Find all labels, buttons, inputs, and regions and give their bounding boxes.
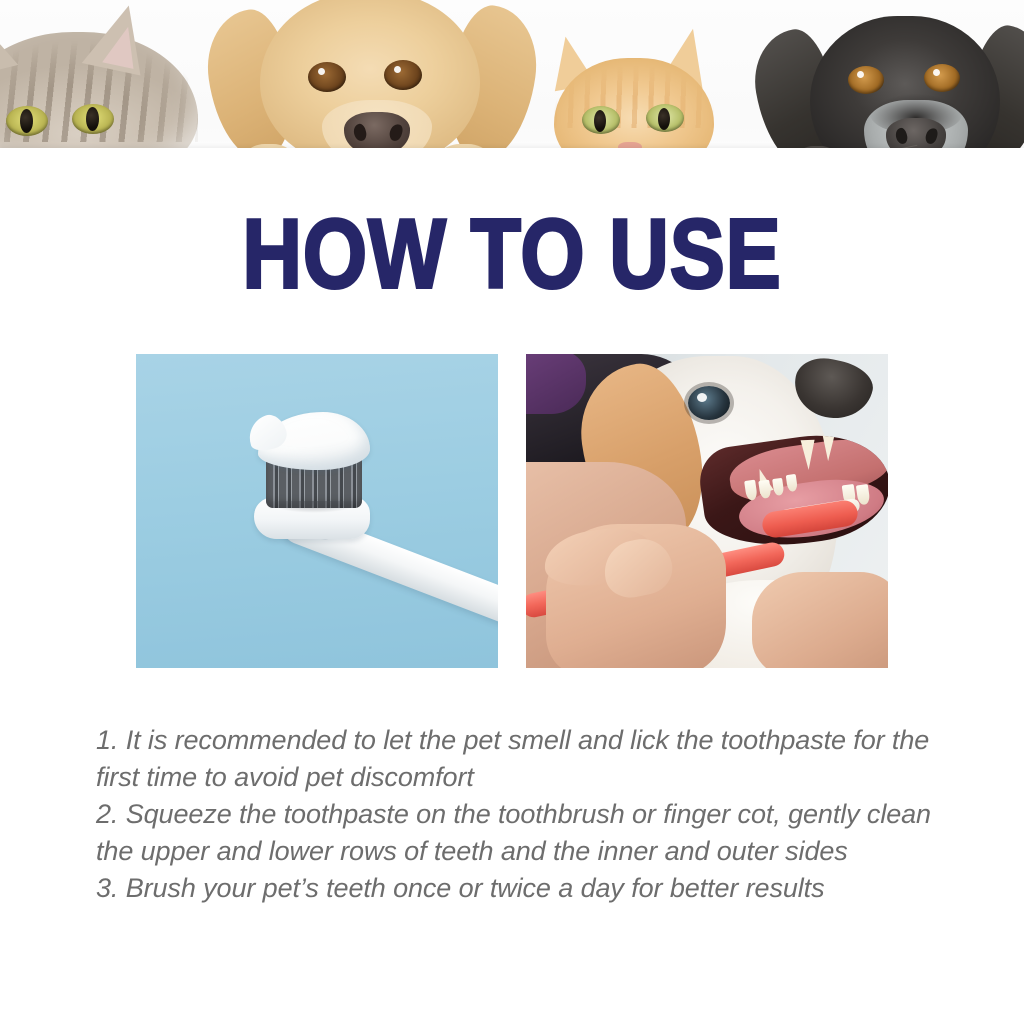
dog-eye-left: [308, 62, 346, 92]
dog-eye-right: [924, 64, 960, 92]
brushing-dog-teeth-photo: [526, 354, 888, 668]
photo-row: [136, 354, 888, 668]
instruction-step-1: 1. It is recommended to let the pet smel…: [96, 722, 972, 796]
cat-pupil-left: [20, 109, 33, 133]
banner-white-card-edge: [0, 148, 1024, 200]
dog-fang: [801, 440, 816, 470]
dog-fang: [822, 435, 834, 461]
cat-pupil-right: [86, 107, 99, 131]
instruction-step-2: 2. Squeeze the toothpaste on the toothbr…: [96, 796, 972, 870]
person-hand-supporting-dog: [752, 572, 888, 668]
cat-pupil-right: [658, 108, 670, 130]
pet-banner: [0, 0, 1024, 200]
dog-eye-right: [384, 60, 422, 90]
dog-eye-glint-left: [318, 68, 325, 75]
dog-eye-glint-right: [394, 66, 401, 73]
cat-pupil-left: [594, 110, 606, 132]
page-title: HOW TO USE: [72, 206, 953, 304]
dog-eye-left: [848, 66, 884, 94]
instructions-list: 1. It is recommended to let the pet smel…: [96, 722, 972, 907]
dog-eye-glint-right: [933, 69, 940, 76]
dog-eye: [688, 386, 730, 420]
toothpaste-on-toothbrush-photo: [136, 354, 498, 668]
dog-eye-glint-left: [857, 71, 864, 78]
instruction-step-3: 3. Brush your pet’s teeth once or twice …: [96, 870, 972, 907]
